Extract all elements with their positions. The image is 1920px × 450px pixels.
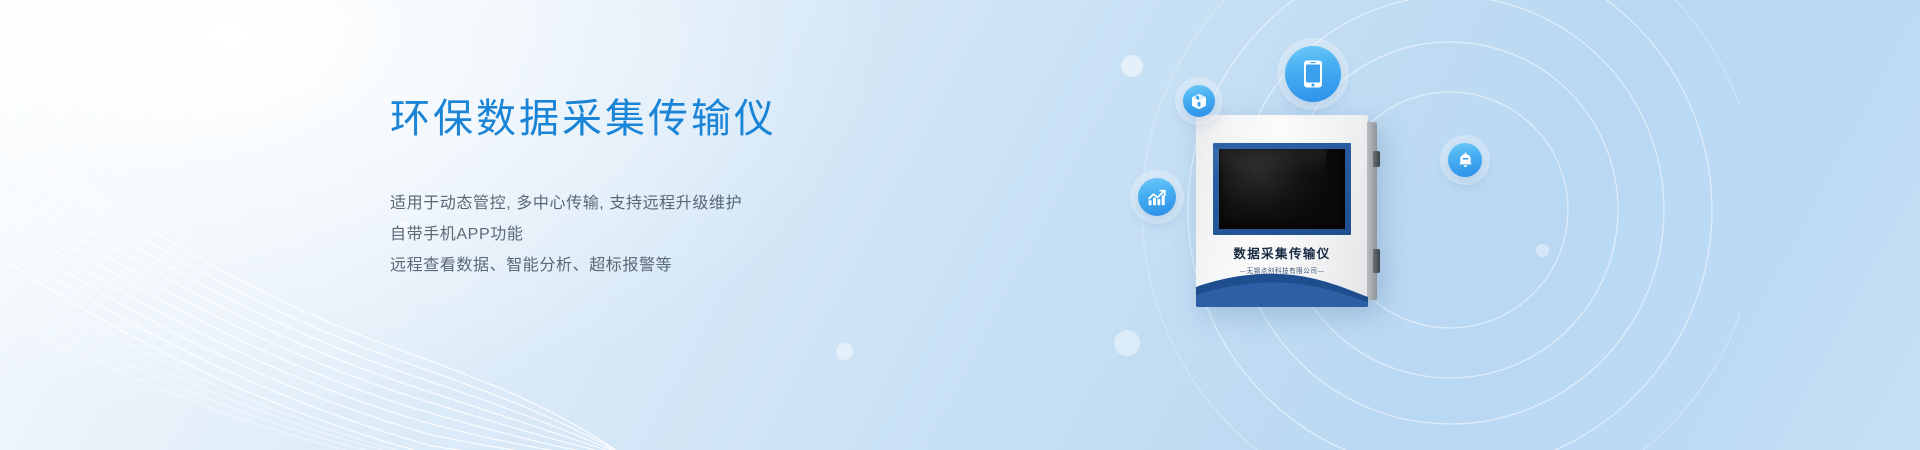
bokeh-dot [836,343,853,360]
alarm-bell-icon [1457,152,1474,169]
device-model-name: 数据采集传输仪 [1196,243,1368,262]
device-wave-graphic [1196,271,1368,307]
concentric-arcs-decoration [1020,0,1740,450]
device-connector [1373,151,1380,167]
device-screen-bezel [1213,143,1351,235]
device-screen [1219,149,1345,229]
cube-box-icon [1191,93,1207,110]
badge-device-module[interactable] [1183,85,1215,117]
banner-subtitle-list: 适用于动态管控, 多中心传输, 支持远程升级维护 自带手机APP功能 远程查看数… [390,188,990,281]
banner-subtitle-line: 自带手机APP功能 [390,219,990,250]
banner-headline: 环保数据采集传输仪 [390,96,990,142]
bar-chart-trend-icon [1147,188,1167,207]
product-hero-banner: 环保数据采集传输仪 适用于动态管控, 多中心传输, 支持远程升级维护 自带手机A… [0,0,1920,450]
badge-mobile-app[interactable] [1285,46,1341,102]
bokeh-dot [1114,330,1140,356]
device-side-edge [1367,121,1377,300]
product-device-image: 数据采集传输仪 —无锡点创科技有限公司— [1196,115,1368,307]
badge-data-analysis[interactable] [1138,178,1176,216]
mobile-phone-icon [1302,59,1324,89]
banner-subtitle-line: 远程查看数据、智能分析、超标报警等 [390,250,990,281]
banner-subtitle-line: 适用于动态管控, 多中心传输, 支持远程升级维护 [390,188,990,219]
badge-alarm-notification[interactable] [1448,143,1482,177]
banner-copy: 环保数据采集传输仪 适用于动态管控, 多中心传输, 支持远程升级维护 自带手机A… [390,96,990,281]
device-connector [1373,249,1380,273]
bokeh-dot [1121,55,1143,77]
bokeh-dot [1536,244,1549,257]
